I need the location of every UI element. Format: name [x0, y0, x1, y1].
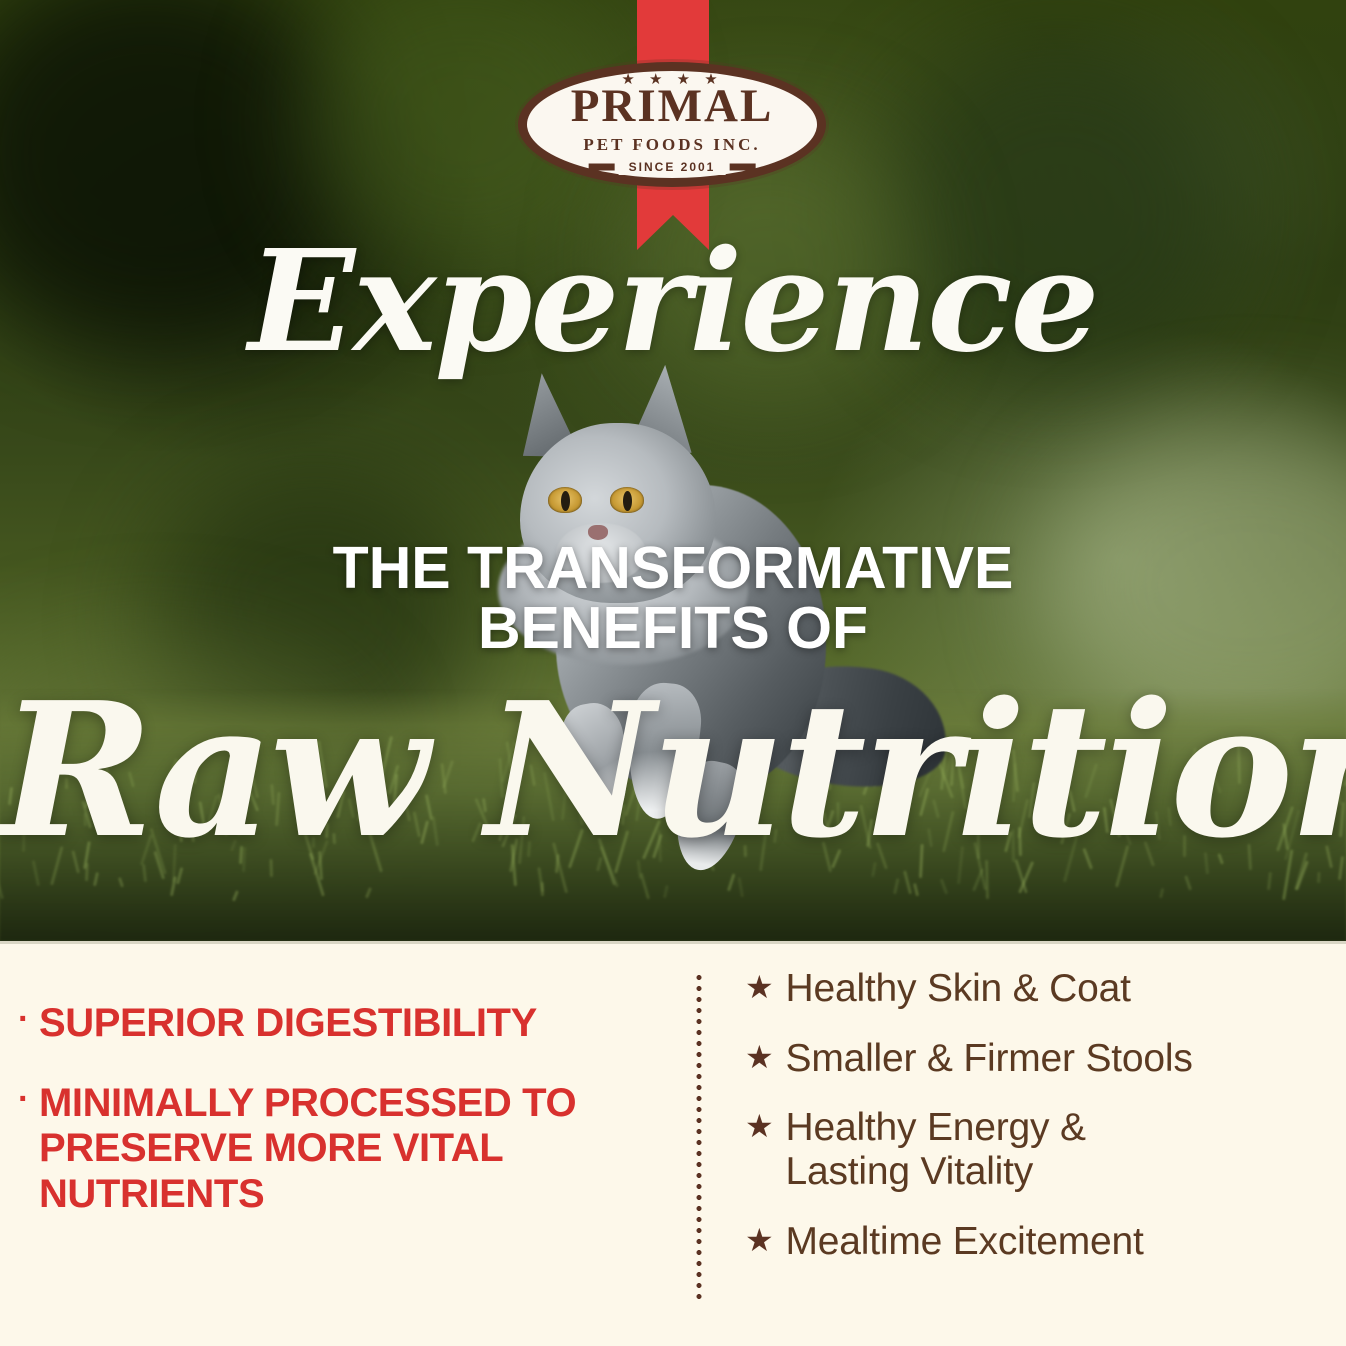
grass-blade	[232, 890, 239, 901]
star-icon: ★	[745, 1220, 774, 1262]
grass-blade	[365, 888, 372, 899]
headline-script-bottom: Raw Nutrition	[0, 678, 1346, 863]
grass-blade	[1159, 888, 1164, 898]
grass-blade	[170, 876, 177, 896]
cat-pupil-right	[623, 491, 632, 511]
logo-since-banner: SINCE 2001	[619, 159, 726, 175]
headline-script-top: Experience	[0, 232, 1346, 372]
list-item: ★ Healthy Energy & Lasting Vitality	[745, 1106, 1325, 1193]
benefits-left-column: · SUPERIOR DIGESTIBILITY · MINIMALLY PRO…	[18, 1001, 666, 1251]
list-item: · MINIMALLY PROCESSED TO PRESERVE MORE V…	[18, 1081, 666, 1218]
benefits-right-column: ★ Healthy Skin & Coat ★ Smaller & Firmer…	[745, 967, 1325, 1289]
list-item: ★ Smaller & Firmer Stools	[745, 1037, 1325, 1081]
list-item-line-1: Healthy Energy &	[786, 1106, 1326, 1150]
star-icon: ★	[745, 967, 774, 1009]
list-item-label: Smaller & Firmer Stools	[786, 1037, 1326, 1081]
list-item: ★ Healthy Skin & Coat	[745, 967, 1325, 1011]
headline-subhead: THE TRANSFORMATIVE BENEFITS OF	[0, 538, 1346, 658]
list-item: · SUPERIOR DIGESTIBILITY	[18, 1001, 666, 1047]
star-icon: ★	[745, 1106, 774, 1148]
list-item-label: Mealtime Excitement	[786, 1220, 1326, 1264]
list-item-line-2: Lasting Vitality	[786, 1150, 1326, 1194]
star-icon: ★	[745, 1037, 774, 1079]
list-item-label: MINIMALLY PROCESSED TO PRESERVE MORE VIT…	[39, 1081, 666, 1218]
trademark-icon: ™	[793, 90, 804, 102]
list-item-label: Healthy Skin & Coat	[786, 967, 1326, 1011]
list-item-line-1: Mealtime Excitement	[786, 1220, 1326, 1264]
benefits-panel: · SUPERIOR DIGESTIBILITY · MINIMALLY PRO…	[0, 941, 1346, 1346]
logo-brand-name: PRIMAL	[518, 83, 826, 130]
list-item-line-1: Healthy Skin & Coat	[786, 967, 1326, 1011]
cat-pupil-left	[561, 491, 570, 511]
list-item-label: Healthy Energy & Lasting Vitality	[786, 1106, 1326, 1193]
bullet-dot-icon: ·	[18, 1001, 29, 1038]
bullet-dot-icon: ·	[18, 1081, 29, 1118]
logo-tagline: PET FOODS INC.	[518, 136, 826, 153]
list-item-line-1: Smaller & Firmer Stools	[786, 1037, 1326, 1081]
dotted-divider	[696, 972, 702, 1302]
list-item-label: SUPERIOR DIGESTIBILITY	[39, 1001, 666, 1047]
subhead-line-1: THE TRANSFORMATIVE	[0, 538, 1346, 598]
primal-logo: ★ ★ ★ ★ PRIMAL ™ PET FOODS INC. SINCE 20…	[518, 62, 826, 187]
primal-pet-foods-promo-poster: ★ ★ ★ ★ PRIMAL ™ PET FOODS INC. SINCE 20…	[0, 0, 1346, 1346]
list-item: ★ Mealtime Excitement	[745, 1220, 1325, 1264]
hero-photo-background: ★ ★ ★ ★ PRIMAL ™ PET FOODS INC. SINCE 20…	[0, 0, 1346, 941]
subhead-line-2: BENEFITS OF	[0, 598, 1346, 658]
